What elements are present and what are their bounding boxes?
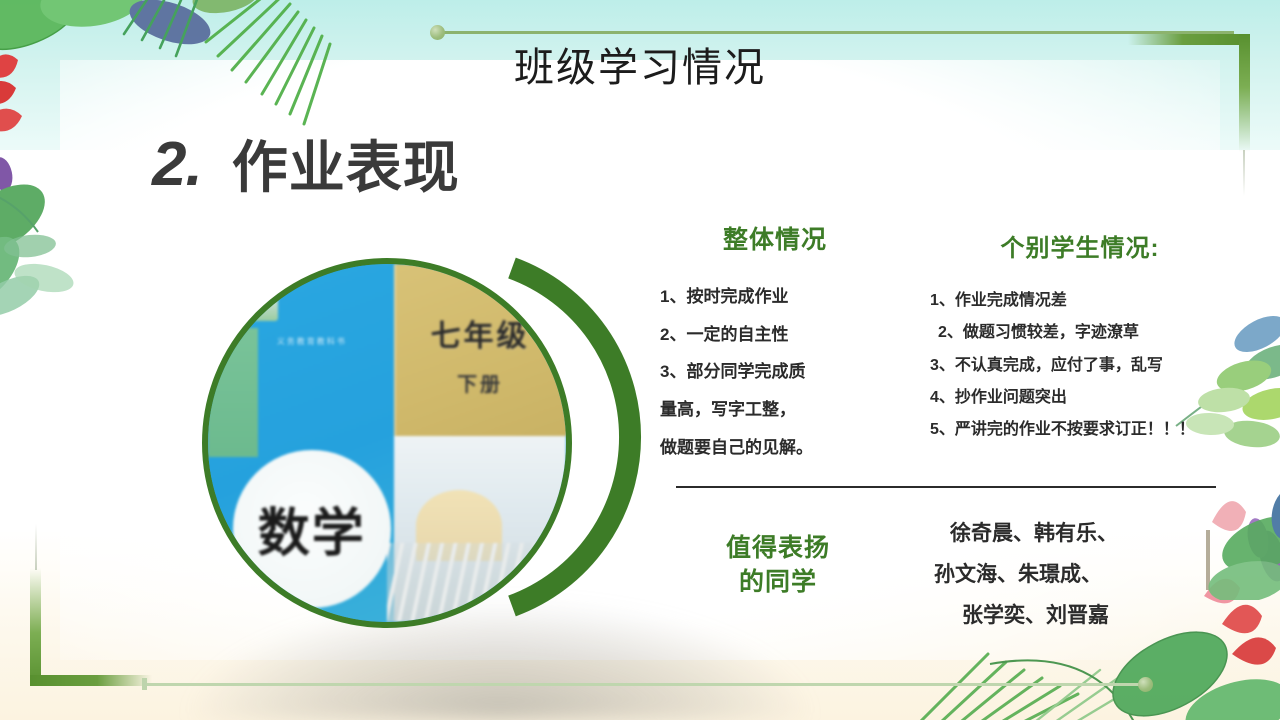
individual-column: 个别学生情况: 1、作业完成情况差 2、做题习惯较差，字迹潦草 3、不认真完成，… — [930, 228, 1230, 447]
bottom-rule-tick — [142, 678, 147, 690]
textbook-photo: 义务教育教科书 七年级 下册 数学 — [202, 258, 572, 628]
slide-canvas: 班级学习情况 2. 作业表现 义务教育教科书 七年级 下册 数学 整体 — [0, 0, 1280, 720]
overall-column: 整体情况 1、按时完成作业 2、一定的自主性 3、部分同学完成质 量高，写字工整… — [660, 220, 890, 467]
photo-volume-text: 下册 — [416, 368, 545, 397]
frame-bracket-bottom-left-horizontal — [30, 675, 152, 686]
photo-subject-text: 数学 — [258, 491, 366, 566]
praise-label-line-1: 值得表扬 — [688, 532, 868, 566]
bottom-rule — [146, 683, 1146, 686]
photo-railing — [387, 543, 566, 622]
overall-line-5: 做题要自己的见解。 — [660, 429, 890, 467]
photo-logo-badge-icon — [244, 293, 278, 321]
photo-grade-text: 七年级 — [416, 311, 545, 355]
frame-bracket-top-right-horizontal — [1128, 34, 1250, 45]
section-heading: 2. 作业表现 — [152, 134, 460, 196]
photo-publisher-text: 义务教育教科书 — [251, 336, 373, 347]
individual-line-3: 3、不认真完成，应付了事，乱写 — [930, 350, 1230, 382]
photo-green-strip — [208, 328, 258, 457]
frame-bracket-bottom-left-tail — [35, 524, 37, 570]
overall-heading: 整体情况 — [660, 220, 890, 256]
bottom-rule-dot-icon — [1138, 677, 1153, 692]
praise-names-line-2: 孙文海、朱璟成、 — [920, 555, 1220, 596]
praise-label: 值得表扬 的同学 — [688, 532, 868, 600]
section-title: 作业表现 — [232, 140, 460, 196]
praise-names: 徐奇晨、韩有乐、 孙文海、朱璟成、 张学奕、刘晋嘉 — [920, 514, 1220, 637]
section-divider — [676, 486, 1216, 488]
individual-line-1: 1、作业完成情况差 — [930, 285, 1230, 317]
individual-line-4: 4、抄作业问题突出 — [930, 382, 1230, 414]
page-title: 班级学习情况 — [0, 46, 1280, 90]
top-rule-dot-icon — [430, 25, 445, 40]
individual-heading: 个别学生情况: — [930, 228, 1230, 263]
frame-bracket-top-right-tail — [1243, 150, 1245, 196]
overall-line-1: 1、按时完成作业 — [660, 278, 890, 316]
individual-line-5: 5、严讲完的作业不按要求订正！！！ — [930, 414, 1230, 446]
overall-line-3: 3、部分同学完成质 — [660, 353, 890, 391]
individual-line-2: 2、做题习惯较差，字迹潦草 — [930, 317, 1230, 349]
textbook-photo-content: 义务教育教科书 七年级 下册 数学 — [208, 264, 566, 622]
top-rule — [444, 31, 1234, 34]
praise-names-line-3: 张学奕、刘晋嘉 — [920, 596, 1220, 637]
individual-lines: 1、作业完成情况差 2、做题习惯较差，字迹潦草 3、不认真完成，应付了事，乱写 … — [930, 285, 1230, 447]
overall-line-4: 量高，写字工整， — [660, 391, 890, 429]
overall-lines: 1、按时完成作业 2、一定的自主性 3、部分同学完成质 量高，写字工整， 做题要… — [660, 278, 890, 467]
overall-line-2: 2、一定的自主性 — [660, 316, 890, 354]
praise-names-line-1: 徐奇晨、韩有乐、 — [920, 514, 1220, 555]
frame-bracket-bottom-left-vertical — [30, 568, 41, 686]
section-number: 2. — [152, 134, 202, 196]
photo-subject-circle: 数学 — [233, 450, 391, 608]
praise-label-line-2: 的同学 — [688, 566, 868, 600]
